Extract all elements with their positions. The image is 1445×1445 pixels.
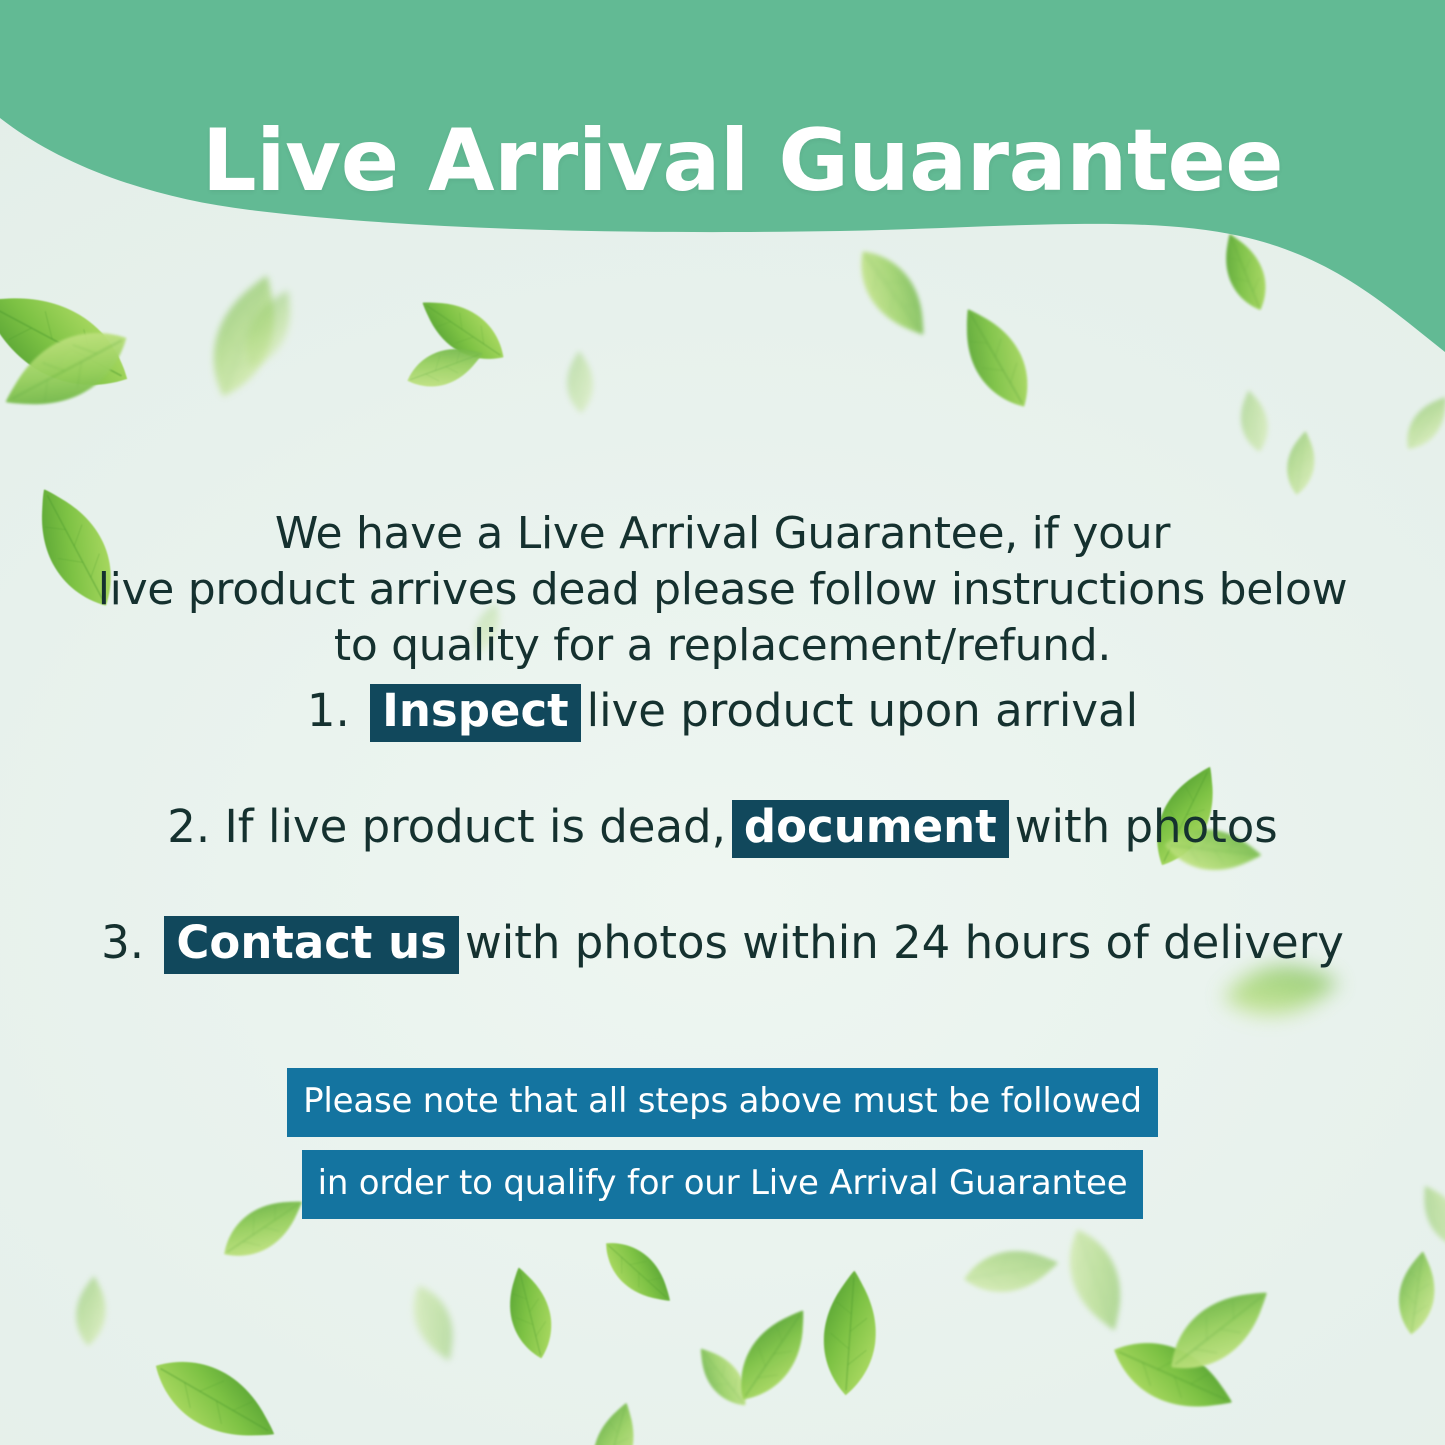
step-after-2: with photos [1015, 800, 1278, 853]
step-highlight-1: Inspect [370, 684, 580, 742]
intro-line-1: We have a Live Arrival Guarantee, if you… [0, 506, 1445, 562]
step-number-2: 2. [167, 800, 210, 853]
step-before-2: If live product is dead, [225, 800, 726, 853]
poster-canvas: Live Arrival Guarantee We have a Live Ar… [0, 0, 1445, 1445]
steps-list: 1. Inspectlive product upon arrival 2. I… [0, 680, 1445, 1028]
step-highlight-2: document [732, 800, 1009, 858]
note-row-1: Please note that all steps above must be… [0, 1068, 1445, 1137]
note-row-2: in order to qualify for our Live Arrival… [0, 1150, 1445, 1219]
note-banner-2: in order to qualify for our Live Arrival… [302, 1150, 1144, 1219]
step-number-3: 3. [101, 916, 144, 969]
step-item-2: 2. If live product is dead,documentwith … [0, 796, 1445, 858]
intro-line-3: to quality for a replacement/refund. [0, 618, 1445, 674]
step-after-3: with photos within 24 hours of delivery [465, 916, 1344, 969]
intro-line-2: live product arrives dead please follow … [0, 562, 1445, 618]
main-content: We have a Live Arrival Guarantee, if you… [0, 0, 1445, 1445]
notes-block: Please note that all steps above must be… [0, 1068, 1445, 1219]
step-number-1: 1. [307, 684, 350, 737]
step-item-1: 1. Inspectlive product upon arrival [0, 680, 1445, 742]
step-highlight-3: Contact us [164, 916, 459, 974]
step-after-1: live product upon arrival [587, 684, 1138, 737]
intro-paragraph: We have a Live Arrival Guarantee, if you… [0, 506, 1445, 674]
note-banner-1: Please note that all steps above must be… [287, 1068, 1158, 1137]
step-item-3: 3. Contact uswith photos within 24 hours… [0, 912, 1445, 974]
